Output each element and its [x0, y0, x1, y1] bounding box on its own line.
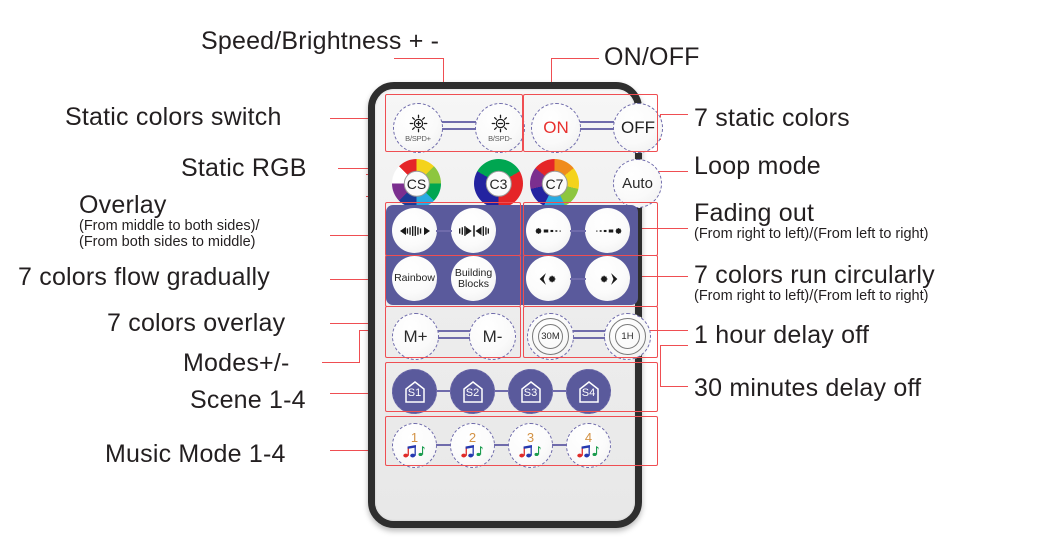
connector-music-3-4	[552, 444, 567, 446]
callout-run-circularly-text: 7 colors run circularly	[694, 262, 935, 289]
house-icon-4: S4	[578, 380, 600, 404]
circular-left-to-right-icon	[594, 272, 622, 286]
button-power-off-label: OFF	[621, 118, 655, 138]
circular-right-to-left-icon	[535, 272, 563, 286]
connector-effects-2b	[570, 278, 586, 280]
connector-power	[580, 121, 614, 130]
connector-music-2-3	[494, 444, 509, 446]
house-icon-3: S3	[520, 380, 542, 404]
house-icon-1: S1	[404, 380, 426, 404]
button-timer-30m-label: 30M	[541, 331, 559, 342]
leader-coverlay-h	[330, 323, 370, 324]
button-music-2[interactable]: 2	[450, 423, 495, 468]
callout-run-circularly-sub: (From right to left)/(From left to right…	[694, 289, 935, 305]
callout-loop-mode-text: Loop mode	[694, 153, 821, 180]
button-music-3-number: 3	[527, 431, 534, 444]
button-auto[interactable]: Auto	[613, 159, 662, 208]
house-icon-2: S2	[462, 380, 484, 404]
music-notes-icon	[403, 444, 427, 461]
callout-7-static-colors: 7 static colors	[694, 105, 850, 132]
connector-effects-1b	[570, 230, 586, 232]
music-note-icon	[403, 444, 427, 459]
music-notes-icon	[461, 444, 485, 461]
callout-fading-out: Fading out (From right to left)/(From le…	[694, 200, 928, 243]
button-mode-plus[interactable]: M+	[392, 313, 439, 360]
connector-scene-3-4	[552, 390, 567, 392]
callout-loop-mode: Loop mode	[694, 153, 821, 180]
callout-overlay-sub1: (From middle to both sides)/	[79, 219, 260, 235]
remote-face: B/SPD+ B/SPD- ON	[375, 89, 635, 521]
button-cs-color-wheel[interactable]: CS	[392, 159, 441, 208]
button-timer-1h-label: 1H	[621, 331, 633, 342]
button-overlay-inward[interactable]	[451, 208, 496, 253]
button-power-on-label: ON	[543, 118, 569, 138]
button-c7-label: C7	[541, 170, 567, 196]
button-scene-4-label: S4	[578, 387, 600, 399]
callout-music-mode: Music Mode 1-4	[105, 441, 286, 468]
button-brightness-up[interactable]: B/SPD+	[393, 103, 443, 153]
callout-static-rgb: Static RGB	[181, 155, 307, 182]
callout-delay-30m: 30 minutes delay off	[694, 375, 921, 402]
callout-scene-text: Scene 1-4	[190, 387, 306, 414]
callout-static-colors-switch: Static colors switch	[65, 104, 282, 131]
callout-flow-gradually: 7 colors flow gradually	[18, 264, 270, 291]
button-scene-1-label: S1	[404, 387, 426, 399]
button-music-1[interactable]: 1	[392, 423, 437, 468]
connector-effects-1a	[436, 230, 452, 232]
callout-delay-1h-text: 1 hour delay off	[694, 322, 869, 349]
button-mode-minus-label: M-	[483, 327, 503, 347]
connector-modes	[438, 330, 470, 339]
button-rainbow-label: Rainbow	[394, 273, 435, 284]
music-note-icon	[519, 444, 543, 459]
button-c3-label: C3	[485, 170, 511, 196]
leader-modes-h	[322, 362, 360, 363]
callout-delay-30m-text: 30 minutes delay off	[694, 375, 921, 402]
button-fade-right-to-left[interactable]	[526, 208, 571, 253]
leader-onoff-h	[551, 58, 599, 59]
button-mode-minus[interactable]: M-	[469, 313, 516, 360]
leader-modes-v	[359, 330, 360, 363]
callout-7-static-colors-text: 7 static colors	[694, 105, 850, 132]
sun-minus-icon	[491, 114, 510, 133]
button-auto-label: Auto	[622, 175, 653, 192]
callout-flow-gradually-text: 7 colors flow gradually	[18, 264, 270, 291]
callout-overlay: Overlay (From middle to both sides)/ (Fr…	[79, 192, 260, 250]
button-scene-4[interactable]: S4	[566, 369, 611, 414]
connector-scene-1-2	[436, 390, 451, 392]
leader-30m-h2	[660, 345, 688, 346]
music-notes-icon	[577, 444, 601, 461]
bb-line2: Blocks	[458, 278, 489, 290]
button-building-blocks-label: Building Blocks	[455, 268, 492, 289]
button-scene-1[interactable]: S1	[392, 369, 437, 414]
button-circular-left-to-right[interactable]	[585, 256, 630, 301]
button-timer-30m[interactable]: 30M	[527, 313, 574, 360]
connector-brightness	[442, 121, 476, 130]
button-music-3[interactable]: 3	[508, 423, 553, 468]
callout-fading-out-sub: (From right to left)/(From left to right…	[694, 227, 928, 243]
callout-scene: Scene 1-4	[190, 387, 306, 414]
button-scene-3-label: S3	[520, 387, 542, 399]
leader-30m-h	[660, 386, 688, 387]
callout-static-colors-switch-text: Static colors switch	[65, 104, 282, 131]
diagram-canvas: Speed/Brightness + - ON/OFF Static color…	[0, 0, 1047, 546]
connector-timers	[573, 330, 605, 339]
button-scene-2-label: S2	[462, 387, 484, 399]
fade-right-to-left-icon	[534, 225, 564, 237]
callout-colors-overlay-text: 7 colors overlay	[107, 310, 285, 337]
callout-music-mode-text: Music Mode 1-4	[105, 441, 286, 468]
button-fade-left-to-right[interactable]	[585, 208, 630, 253]
button-scene-2[interactable]: S2	[450, 369, 495, 414]
overlay-outward-icon	[400, 225, 430, 237]
music-note-icon	[461, 444, 485, 459]
callout-speed-brightness-text: Speed/Brightness + -	[201, 28, 439, 55]
button-brightness-down[interactable]: B/SPD-	[475, 103, 525, 153]
connector-music-1-2	[436, 444, 451, 446]
callout-overlay-sub2: (From both sides to middle)	[79, 235, 260, 251]
callout-fading-out-text: Fading out	[694, 200, 928, 227]
callout-modes-text: Modes+/-	[183, 350, 290, 377]
callout-run-circularly: 7 colors run circularly (From right to l…	[694, 262, 935, 305]
leader-7static-h	[660, 114, 688, 115]
button-overlay-outward[interactable]	[392, 208, 437, 253]
callout-on-off-text: ON/OFF	[604, 44, 700, 71]
callout-static-rgb-text: Static RGB	[181, 155, 307, 182]
callout-on-off: ON/OFF	[604, 44, 700, 71]
music-notes-icon	[519, 444, 543, 461]
button-c3-color-wheel[interactable]: C3	[474, 159, 523, 208]
button-scene-3[interactable]: S3	[508, 369, 553, 414]
button-power-off[interactable]: OFF	[613, 103, 663, 153]
button-c7-color-wheel[interactable]: C7	[530, 159, 579, 208]
button-cs-label: CS	[403, 170, 429, 196]
button-building-blocks[interactable]: Building Blocks	[451, 256, 496, 301]
button-timer-1h[interactable]: 1H	[604, 313, 651, 360]
overlay-inward-icon	[459, 225, 489, 237]
button-music-2-number: 2	[469, 431, 476, 444]
button-power-on[interactable]: ON	[531, 103, 581, 153]
connector-scene-2-3	[494, 390, 509, 392]
callout-overlay-text: Overlay	[79, 192, 260, 219]
button-mode-plus-label: M+	[403, 327, 427, 347]
button-music-1-number: 1	[411, 431, 418, 444]
callout-delay-1h: 1 hour delay off	[694, 322, 869, 349]
button-rainbow[interactable]: Rainbow	[392, 256, 437, 301]
button-brightness-down-label: B/SPD-	[488, 134, 512, 143]
fade-left-to-right-icon	[593, 225, 623, 237]
leader-30m-v	[660, 345, 661, 387]
button-circular-right-to-left[interactable]	[526, 256, 571, 301]
callout-colors-overlay: 7 colors overlay	[107, 310, 285, 337]
music-note-icon	[577, 444, 601, 459]
button-music-4-number: 4	[585, 431, 592, 444]
leader-speed-brightness-h	[394, 58, 444, 59]
button-music-4[interactable]: 4	[566, 423, 611, 468]
button-brightness-up-label: B/SPD+	[405, 134, 431, 143]
remote-control-body: B/SPD+ B/SPD- ON	[368, 82, 642, 528]
callout-modes: Modes+/-	[183, 350, 290, 377]
effects-panel: Rainbow Building Blocks	[386, 205, 638, 305]
callout-speed-brightness: Speed/Brightness + -	[201, 28, 439, 55]
sun-plus-icon	[409, 114, 428, 133]
